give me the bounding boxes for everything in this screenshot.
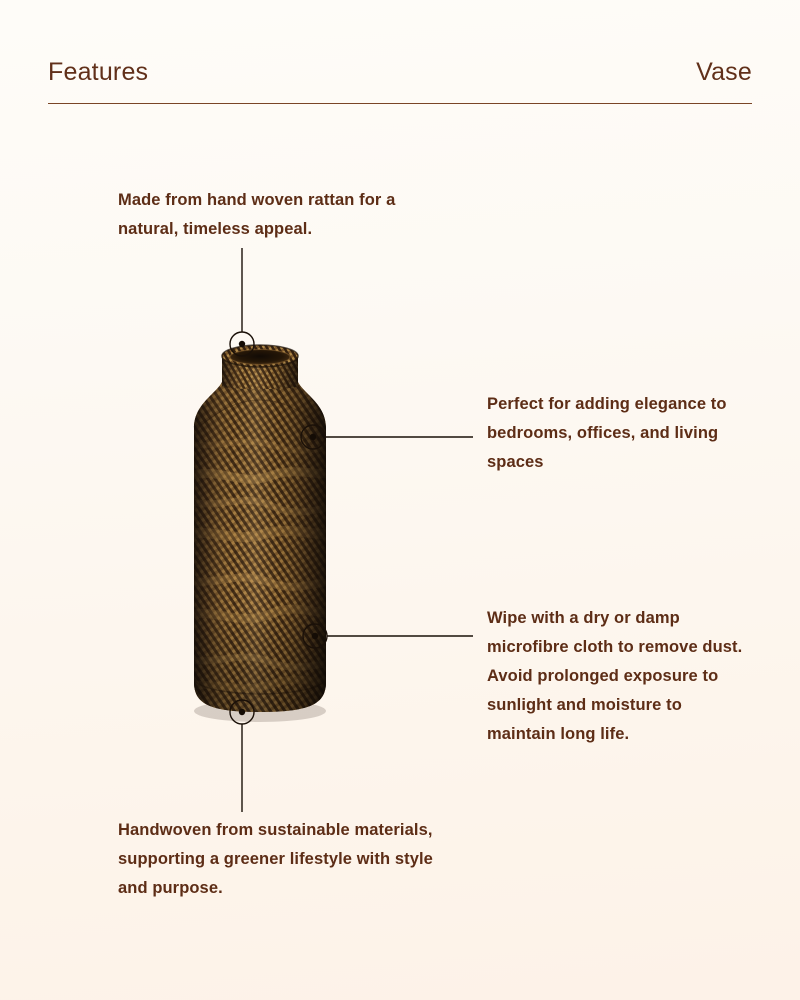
- page-title: Features: [48, 60, 148, 85]
- callout-sustainability: Handwoven from sustainable materials, su…: [118, 816, 458, 903]
- rattan-vase-image: [160, 330, 360, 725]
- callout-material: Made from hand woven rattan for a natura…: [118, 186, 448, 244]
- product-name: Vase: [696, 60, 752, 85]
- callout-care: Wipe with a dry or damp microfibre cloth…: [487, 604, 747, 748]
- header-row: Features Vase: [48, 60, 752, 85]
- header-divider: [48, 103, 752, 104]
- vase-rim: [222, 345, 298, 367]
- vase-illustration: [160, 330, 360, 725]
- feature-callout-page: Features Vase: [0, 0, 800, 1000]
- header: Features Vase: [48, 60, 752, 104]
- callout-placement: Perfect for adding elegance to bedrooms,…: [487, 390, 757, 477]
- vase-body: [176, 354, 354, 712]
